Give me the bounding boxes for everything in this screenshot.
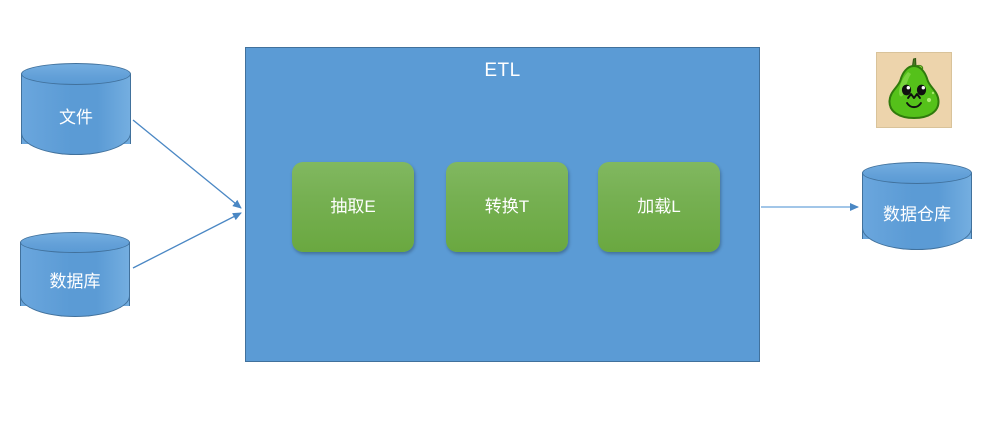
diagram-canvas: 文件 数据库 ETL 抽取E 转换T 加载L 数据仓库 bbox=[0, 0, 997, 441]
source-file-cylinder[interactable]: 文件 bbox=[21, 63, 131, 155]
arrow-database-to-etl bbox=[133, 213, 241, 268]
etl-title: ETL bbox=[246, 60, 759, 82]
cylinder-bottom-ellipse bbox=[862, 228, 972, 250]
cylinder-top-ellipse bbox=[21, 63, 131, 85]
cylinder-top-ellipse bbox=[862, 162, 972, 184]
source-file-label: 文件 bbox=[21, 108, 131, 128]
source-database-cylinder[interactable]: 数据库 bbox=[20, 232, 130, 317]
stage-load-label: 加载L bbox=[637, 197, 680, 217]
stage-transform[interactable]: 转换T bbox=[446, 162, 568, 252]
stage-load[interactable]: 加载L bbox=[598, 162, 720, 252]
pear-mascot-icon bbox=[876, 52, 952, 128]
cylinder-bottom-ellipse bbox=[20, 296, 130, 317]
stage-transform-label: 转换T bbox=[485, 197, 529, 217]
cylinder-bottom-ellipse bbox=[21, 133, 131, 155]
arrow-file-to-etl bbox=[133, 120, 241, 208]
cylinder-top-ellipse bbox=[20, 232, 130, 253]
stage-extract-label: 抽取E bbox=[330, 197, 375, 217]
target-data-warehouse-label: 数据仓库 bbox=[862, 205, 972, 225]
stage-extract[interactable]: 抽取E bbox=[292, 162, 414, 252]
source-database-label: 数据库 bbox=[20, 272, 130, 292]
target-data-warehouse-cylinder[interactable]: 数据仓库 bbox=[862, 162, 972, 250]
